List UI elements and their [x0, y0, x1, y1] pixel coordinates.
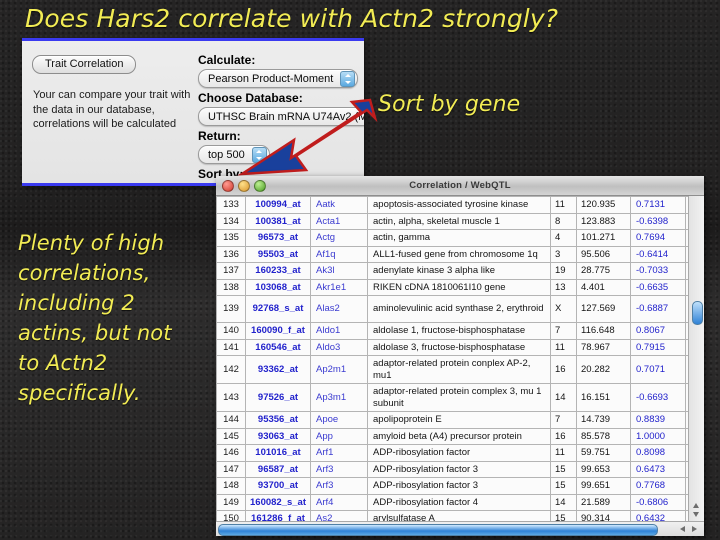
cell-idx: 136	[217, 246, 246, 263]
cell-probe: 160546_at	[246, 339, 311, 356]
cell-corr: 0.6473	[631, 461, 686, 478]
table-row[interactable]: 133100994_atAatkapoptosis-associated tyr…	[217, 197, 705, 214]
cell-probe: 92768_s_at	[246, 296, 311, 323]
cell-idx: 145	[217, 428, 246, 445]
cell-probe: 95503_at	[246, 246, 311, 263]
cell-idx: 146	[217, 445, 246, 462]
table-row[interactable]: 138103068_atAkr1e1RIKEN cDNA 1810061I10 …	[217, 279, 705, 296]
cell-corr: -0.6414	[631, 246, 686, 263]
cell-chr: 14	[551, 384, 577, 412]
table-row[interactable]: 134100381_atActa1actin, alpha, skeletal …	[217, 213, 705, 230]
correlation-table: 133100994_atAatkapoptosis-associated tyr…	[216, 196, 704, 536]
correlation-commentary-annotation: Plenty of high correlations, including 2…	[18, 228, 172, 408]
cell-idx: 135	[217, 230, 246, 247]
cell-corr: 0.7694	[631, 230, 686, 247]
horizontal-scrollbar[interactable]	[216, 521, 704, 536]
cell-probe: 100994_at	[246, 197, 311, 214]
callout-arrow-icon	[228, 96, 378, 182]
cell-corr: -0.6635	[631, 279, 686, 296]
cell-sym: Af1q	[311, 246, 368, 263]
cell-desc: actin, gamma	[368, 230, 551, 247]
scroll-right-arrow-icon[interactable]	[692, 526, 699, 533]
cell-sym: Ap3m1	[311, 384, 368, 412]
cell-chr: 15	[551, 461, 577, 478]
cell-mb: 59.751	[577, 445, 631, 462]
cell-idx: 133	[217, 197, 246, 214]
cell-desc: apolipoprotein E	[368, 412, 551, 429]
cell-desc: amyloid beta (A4) precursor protein	[368, 428, 551, 445]
cell-chr: 19	[551, 263, 577, 280]
cell-corr: -0.6693	[631, 384, 686, 412]
cell-desc: aminolevulinic acid synthase 2, erythroi…	[368, 296, 551, 323]
cell-corr: -0.6398	[631, 213, 686, 230]
cell-idx: 138	[217, 279, 246, 296]
table-row[interactable]: 14796587_atArf3ADP-ribosylation factor 3…	[217, 461, 705, 478]
cell-desc: ADP-ribosylation factor 4	[368, 494, 551, 511]
table-row[interactable]: 13596573_atActgactin, gamma4101.2710.769…	[217, 230, 705, 247]
horizontal-scrollbar-thumb[interactable]	[218, 524, 658, 536]
table-row[interactable]: 14893700_atArf3ADP-ribosylation factor 3…	[217, 478, 705, 495]
page-title: Does Hars2 correlate with Actn2 strongly…	[25, 4, 558, 33]
cell-idx: 148	[217, 478, 246, 495]
trait-correlation-button[interactable]: Trait Correlation	[32, 55, 136, 74]
cell-desc: aldolase 1, fructose-bisphosphatase	[368, 323, 551, 340]
cell-chr: 11	[551, 339, 577, 356]
correlation-table-body: 133100994_atAatkapoptosis-associated tyr…	[217, 197, 705, 537]
up-down-arrows-icon	[340, 71, 355, 87]
correlation-table-area: 133100994_atAatkapoptosis-associated tyr…	[216, 196, 704, 536]
cell-probe: 97526_at	[246, 384, 311, 412]
cell-corr: 1.0000	[631, 428, 686, 445]
cell-mb: 28.775	[577, 263, 631, 280]
cell-chr: 3	[551, 246, 577, 263]
table-row[interactable]: 14495356_atApoeapolipoprotein E714.7390.…	[217, 412, 705, 429]
cell-probe: 100381_at	[246, 213, 311, 230]
cell-sym: Arf1	[311, 445, 368, 462]
cell-chr: 7	[551, 412, 577, 429]
cell-mb: 14.739	[577, 412, 631, 429]
cell-sym: Apoe	[311, 412, 368, 429]
cell-desc: apoptosis-associated tyrosine kinase	[368, 197, 551, 214]
cell-idx: 134	[217, 213, 246, 230]
cell-probe: 93362_at	[246, 356, 311, 384]
cell-sym: Ap2m1	[311, 356, 368, 384]
cell-probe: 160233_at	[246, 263, 311, 280]
calculate-label: Calculate:	[198, 53, 358, 67]
table-row[interactable]: 14593063_atAppamyloid beta (A4) precurso…	[217, 428, 705, 445]
scroll-up-arrow-icon[interactable]	[693, 503, 700, 510]
calculate-select[interactable]: Pearson Product-Moment	[198, 69, 358, 88]
sort-by-gene-annotation: Sort by gene	[378, 92, 520, 117]
cell-sym: Ak3l	[311, 263, 368, 280]
cell-chr: 16	[551, 428, 577, 445]
cell-probe: 96587_at	[246, 461, 311, 478]
cell-probe: 103068_at	[246, 279, 311, 296]
cell-sym: Acta1	[311, 213, 368, 230]
vertical-scrollbar[interactable]	[688, 196, 704, 522]
cell-sym: Arf3	[311, 478, 368, 495]
cell-idx: 149	[217, 494, 246, 511]
scroll-down-arrow-icon[interactable]	[693, 512, 700, 519]
scroll-left-arrow-icon[interactable]	[680, 526, 687, 533]
cell-chr: 13	[551, 279, 577, 296]
cell-corr: 0.7071	[631, 356, 686, 384]
cell-sym: Aldo3	[311, 339, 368, 356]
cell-mb: 120.935	[577, 197, 631, 214]
cell-chr: 7	[551, 323, 577, 340]
cell-mb: 16.151	[577, 384, 631, 412]
calculate-field: Calculate: Pearson Product-Moment	[198, 53, 358, 88]
table-row[interactable]: 146101016_atArf1ADP-ribosylation factor1…	[217, 445, 705, 462]
cell-mb: 78.967	[577, 339, 631, 356]
cell-sym: Aatk	[311, 197, 368, 214]
window-titlebar[interactable]: Correlation / WebQTL	[216, 176, 704, 196]
cell-mb: 101.271	[577, 230, 631, 247]
cell-idx: 143	[217, 384, 246, 412]
cell-mb: 4.401	[577, 279, 631, 296]
cell-corr: 0.7131	[631, 197, 686, 214]
cell-corr: -0.6887	[631, 296, 686, 323]
cell-idx: 147	[217, 461, 246, 478]
calculate-value: Pearson Product-Moment	[208, 73, 340, 85]
cell-desc: adenylate kinase 3 alpha like	[368, 263, 551, 280]
cell-desc: ADP-ribosylation factor 3	[368, 461, 551, 478]
cell-mb: 20.282	[577, 356, 631, 384]
cell-chr: 14	[551, 494, 577, 511]
cell-mb: 85.578	[577, 428, 631, 445]
table-row[interactable]: 137160233_atAk3ladenylate kinase 3 alpha…	[217, 263, 705, 280]
cell-idx: 140	[217, 323, 246, 340]
cell-desc: aldolase 3, fructose-bisphosphatase	[368, 339, 551, 356]
cell-sym: Akr1e1	[311, 279, 368, 296]
cell-idx: 137	[217, 263, 246, 280]
cell-corr: 0.8067	[631, 323, 686, 340]
cell-mb: 116.648	[577, 323, 631, 340]
cell-corr: 0.7915	[631, 339, 686, 356]
cell-idx: 141	[217, 339, 246, 356]
cell-probe: 93063_at	[246, 428, 311, 445]
table-row[interactable]: 13992768_s_atAlas2aminolevulinic acid sy…	[217, 296, 705, 323]
table-row[interactable]: 140160090_f_atAldo1aldolase 1, fructose-…	[217, 323, 705, 340]
cell-probe: 93700_at	[246, 478, 311, 495]
cell-desc: RIKEN cDNA 1810061I10 gene	[368, 279, 551, 296]
cell-desc: adaptor-related protein complex 3, mu 1 …	[368, 384, 551, 412]
cell-idx: 139	[217, 296, 246, 323]
cell-mb: 21.589	[577, 494, 631, 511]
cell-mb: 99.653	[577, 461, 631, 478]
cell-sym: Arf4	[311, 494, 368, 511]
cell-corr: 0.8839	[631, 412, 686, 429]
cell-mb: 95.506	[577, 246, 631, 263]
cell-probe: 96573_at	[246, 230, 311, 247]
cell-sym: Aldo1	[311, 323, 368, 340]
cell-corr: 0.8098	[631, 445, 686, 462]
cell-chr: X	[551, 296, 577, 323]
cell-chr: 16	[551, 356, 577, 384]
cell-desc: adaptor-related protein conplex AP-2, mu…	[368, 356, 551, 384]
window-title: Correlation / WebQTL	[216, 180, 704, 191]
cell-sym: Arf3	[311, 461, 368, 478]
cell-probe: 95356_at	[246, 412, 311, 429]
table-row[interactable]: 14293362_atAp2m1adaptor-related protein …	[217, 356, 705, 384]
cell-chr: 11	[551, 197, 577, 214]
cell-corr: -0.6806	[631, 494, 686, 511]
cell-probe: 101016_at	[246, 445, 311, 462]
correlation-window: Correlation / WebQTL 133100994_atAatkapo…	[216, 176, 704, 536]
table-row[interactable]: 149160082_s_atArf4ADP-ribosylation facto…	[217, 494, 705, 511]
cell-corr: -0.7033	[631, 263, 686, 280]
table-row[interactable]: 141160546_atAldo3aldolase 3, fructose-bi…	[217, 339, 705, 356]
cell-mb: 127.569	[577, 296, 631, 323]
cell-sym: Alas2	[311, 296, 368, 323]
cell-chr: 11	[551, 445, 577, 462]
table-row[interactable]: 14397526_atAp3m1adaptor-related protein …	[217, 384, 705, 412]
cell-probe: 160082_s_at	[246, 494, 311, 511]
cell-chr: 4	[551, 230, 577, 247]
cell-desc: ALL1-fused gene from chromosome 1q	[368, 246, 551, 263]
cell-desc: ADP-ribosylation factor	[368, 445, 551, 462]
cell-chr: 15	[551, 478, 577, 495]
cell-sym: Actg	[311, 230, 368, 247]
cell-mb: 123.883	[577, 213, 631, 230]
cell-idx: 144	[217, 412, 246, 429]
table-row[interactable]: 13695503_atAf1qALL1-fused gene from chro…	[217, 246, 705, 263]
cell-idx: 142	[217, 356, 246, 384]
cell-sym: App	[311, 428, 368, 445]
cell-mb: 99.651	[577, 478, 631, 495]
cell-chr: 8	[551, 213, 577, 230]
cell-desc: actin, alpha, skeletal muscle 1	[368, 213, 551, 230]
vertical-scrollbar-thumb[interactable]	[692, 301, 703, 325]
cell-corr: 0.7768	[631, 478, 686, 495]
cell-probe: 160090_f_at	[246, 323, 311, 340]
cell-desc: ADP-ribosylation factor 3	[368, 478, 551, 495]
